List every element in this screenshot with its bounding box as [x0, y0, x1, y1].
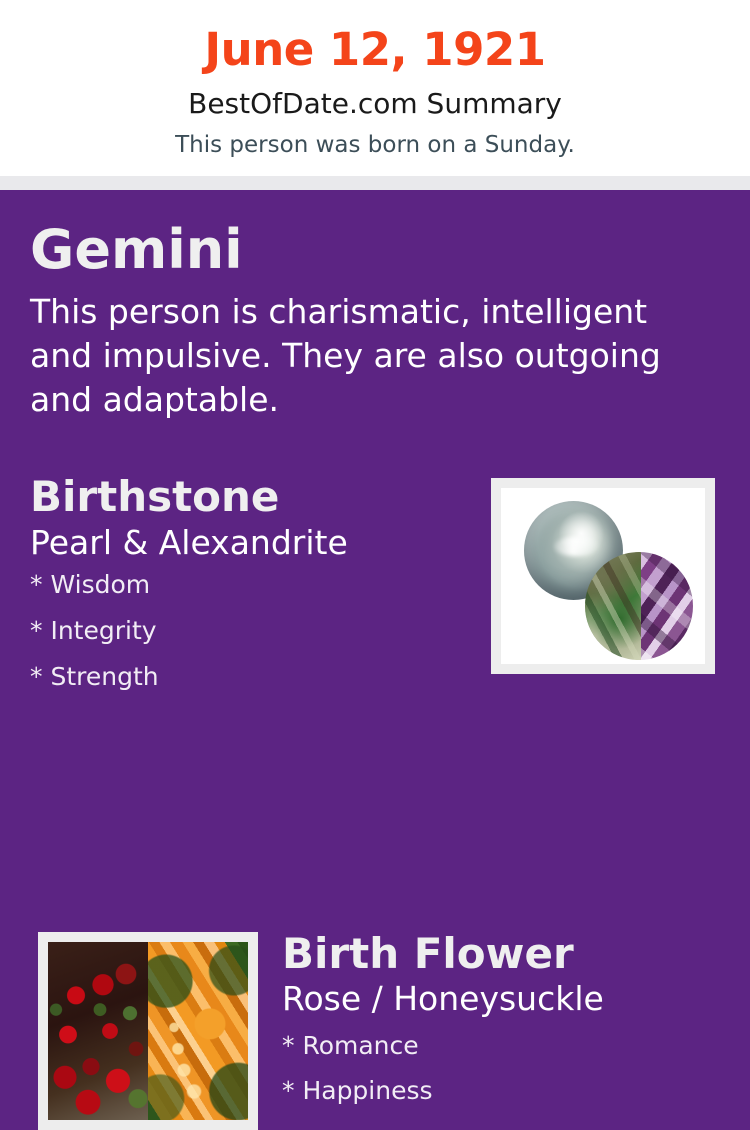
honeysuckle-photo-half: [148, 942, 248, 1120]
day-of-week-subtitle: This person was born on a Sunday.: [0, 118, 750, 157]
birthstone-name: Pearl & Alexandrite: [30, 523, 470, 563]
zodiac-description: This person is charismatic, intelligent …: [30, 290, 702, 423]
birth-date-title: June 12, 1921: [0, 0, 750, 72]
birthstone-image: [501, 488, 705, 664]
list-item: * Happiness: [282, 1078, 722, 1103]
birthstone-section: Birthstone Pearl & Alexandrite * Wisdom …: [30, 475, 470, 710]
birthstone-heading: Birthstone: [30, 475, 470, 518]
birth-flower-trait-list: * Romance * Happiness: [282, 1033, 722, 1103]
birth-flower-heading: Birth Flower: [282, 932, 722, 975]
alexandrite-faceted-half: [641, 552, 693, 660]
alexandrite-rough-half: [585, 552, 641, 660]
zodiac-sign-title: Gemini: [30, 223, 243, 277]
birth-flower-image: [48, 942, 248, 1120]
list-item: * Strength: [30, 664, 470, 689]
birth-flower-section: Birth Flower Rose / Honeysuckle * Romanc…: [282, 932, 722, 1123]
birth-flower-image-frame: [38, 932, 258, 1130]
header-separator: [0, 176, 750, 190]
list-item: * Integrity: [30, 618, 470, 643]
birthstone-image-frame: [491, 478, 715, 674]
summary-card: June 12, 1921 BestOfDate.com Summary Thi…: [0, 0, 750, 1000]
site-name-label: BestOfDate.com Summary: [0, 72, 750, 118]
alexandrite-gem-icon: [585, 552, 693, 660]
birthstone-trait-list: * Wisdom * Integrity * Strength: [30, 572, 470, 689]
header: June 12, 1921 BestOfDate.com Summary Thi…: [0, 0, 750, 176]
red-roses-photo-half: [48, 942, 148, 1120]
details-panel: Gemini This person is charismatic, intel…: [0, 190, 750, 1000]
birth-flower-name: Rose / Honeysuckle: [282, 979, 722, 1019]
list-item: * Romance: [282, 1033, 722, 1058]
list-item: * Wisdom: [30, 572, 470, 597]
